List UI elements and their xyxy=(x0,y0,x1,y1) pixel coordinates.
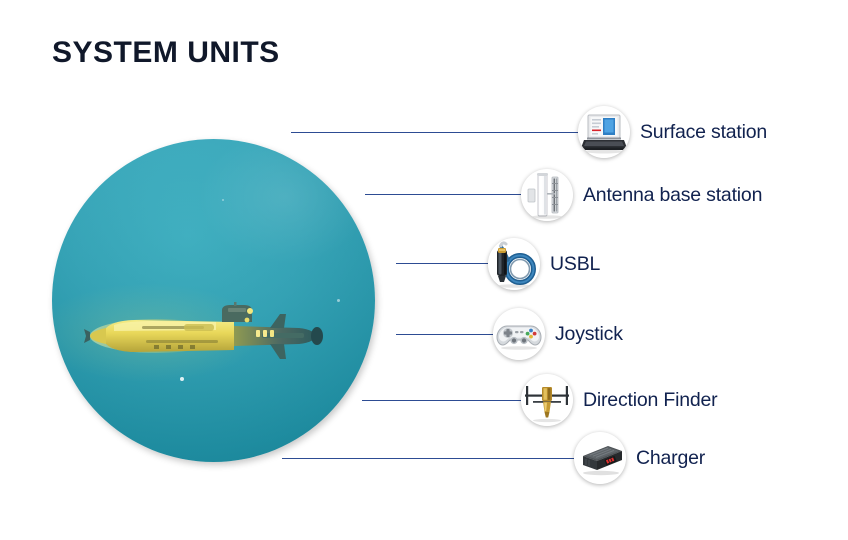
direction-finder-antenna-icon xyxy=(521,374,573,426)
page-title: SYSTEM UNITS xyxy=(52,36,280,70)
auv-vehicle-graphic xyxy=(84,302,336,364)
legend-label-surface-station: Surface station xyxy=(640,121,767,144)
laptop-icon xyxy=(578,106,630,158)
legend-item-antenna-base-station[interactable]: Antenna base station xyxy=(521,169,762,221)
legend-label-charger: Charger xyxy=(636,447,705,470)
water-particle xyxy=(337,299,340,302)
legend-item-usbl[interactable]: USBL xyxy=(488,238,600,290)
legend-item-direction-finder[interactable]: Direction Finder xyxy=(521,374,717,426)
gamepad-icon xyxy=(493,308,545,360)
water-haze-overlay xyxy=(52,139,375,462)
usbl-transducer-icon xyxy=(488,238,540,290)
water-particle xyxy=(222,199,224,201)
connector-line-surface-station xyxy=(291,132,580,133)
connector-line-joystick xyxy=(396,334,497,335)
connector-line-antenna-base-station xyxy=(365,194,523,195)
legend-item-charger[interactable]: Charger xyxy=(574,432,705,484)
connector-line-direction-finder xyxy=(362,400,523,401)
antenna-mast-icon xyxy=(521,169,573,221)
charger-box-icon xyxy=(574,432,626,484)
legend-label-usbl: USBL xyxy=(550,253,600,276)
connector-line-charger xyxy=(282,458,577,459)
connector-line-usbl xyxy=(396,263,492,264)
water-particle xyxy=(180,377,184,381)
legend-item-surface-station[interactable]: Surface station xyxy=(578,106,767,158)
underwater-auv-photo xyxy=(52,139,375,462)
legend-item-joystick[interactable]: Joystick xyxy=(493,308,623,360)
legend-label-joystick: Joystick xyxy=(555,323,623,346)
legend-label-direction-finder: Direction Finder xyxy=(583,389,717,412)
legend-label-antenna-base-station: Antenna base station xyxy=(583,184,762,207)
